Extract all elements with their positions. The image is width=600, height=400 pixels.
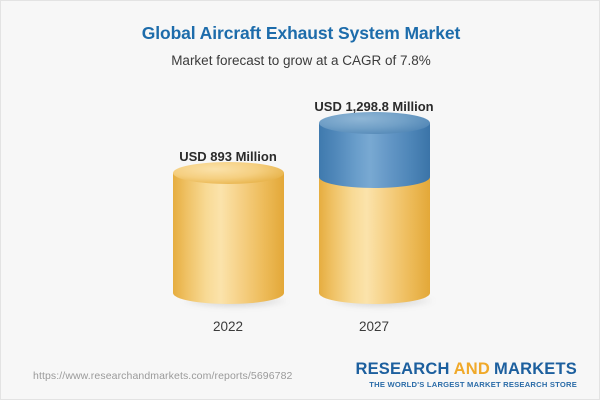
logo-tagline: THE WORLD'S LARGEST MARKET RESEARCH STOR… <box>355 380 577 389</box>
bar-body <box>319 173 430 304</box>
logo-wordmark: RESEARCHANDMARKETS <box>355 361 577 378</box>
bar-segment-2027-growth <box>319 123 430 188</box>
x-tick-label-2027: 2027 <box>314 319 434 334</box>
bar-chart-plot-area: USD 893 Million 2022 USD 1,298.8 Million <box>1 1 600 351</box>
logo-word-and: AND <box>454 360 490 378</box>
x-tick-label-2022: 2022 <box>168 319 288 334</box>
bar-2022 <box>173 173 284 304</box>
logo-word-research: RESEARCH <box>355 360 449 378</box>
chart-card: Global Aircraft Exhaust System Market Ma… <box>0 0 600 400</box>
bar-segment-2027-base <box>319 173 430 304</box>
bar-2027 <box>319 123 430 304</box>
bar-body <box>173 173 284 304</box>
bar-segment-2022-base <box>173 173 284 304</box>
brand-logo[interactable]: RESEARCHANDMARKETS THE WORLD'S LARGEST M… <box>355 361 577 389</box>
bar-top-ellipse <box>319 112 430 134</box>
logo-word-markets: MARKETS <box>494 360 577 378</box>
report-url[interactable]: https://www.researchandmarkets.com/repor… <box>33 370 292 382</box>
bar-top-ellipse <box>173 162 284 184</box>
